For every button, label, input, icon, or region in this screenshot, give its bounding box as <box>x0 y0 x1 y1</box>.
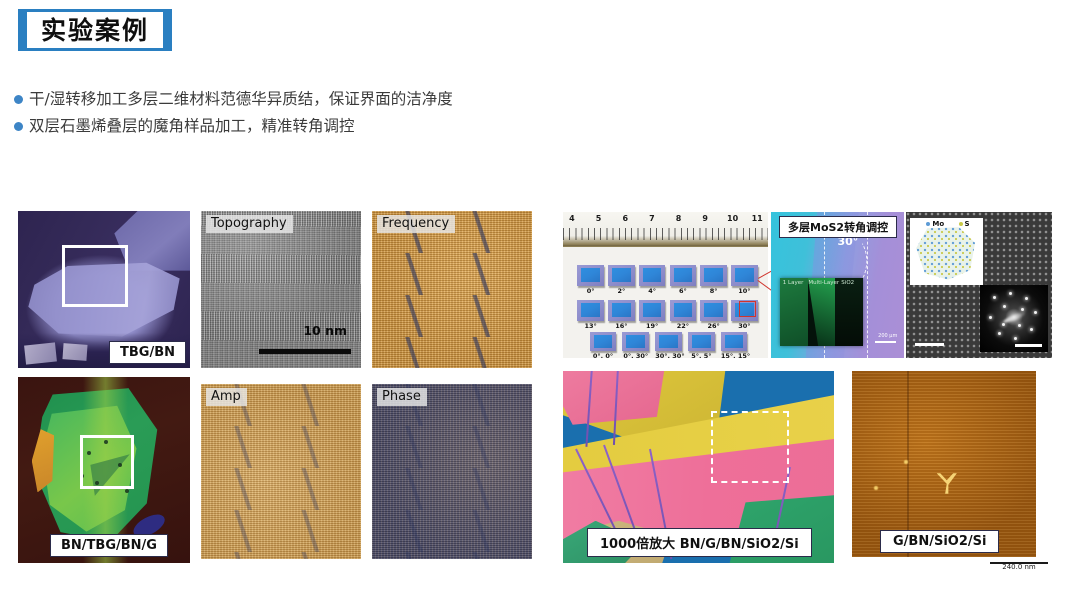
sample-angle-label: 19° <box>639 322 666 330</box>
diffraction-spot <box>1030 328 1033 331</box>
chip-substrate <box>622 332 649 351</box>
ruler-number: 11 <box>752 214 763 223</box>
bubble-dot <box>125 489 129 493</box>
ruler-number: 4 <box>569 214 575 223</box>
chip-flake <box>643 268 662 283</box>
legend-swatch-s <box>959 222 963 226</box>
ruler-number: 6 <box>622 214 628 223</box>
chip-flake <box>674 303 693 318</box>
sample-chip: 0° <box>577 265 604 294</box>
figure-caption-1000x: 1000倍放大 BN/G/BN/SiO2/Si <box>587 528 812 557</box>
chip-substrate <box>639 265 666 286</box>
sample-angle-label: 8° <box>700 287 727 295</box>
legend-label-mo: Mo <box>932 220 944 228</box>
figure-caption-tbg-bn: TBG/BN <box>109 341 186 364</box>
sample-chip: 13° <box>577 300 604 329</box>
chip-flake <box>581 303 600 318</box>
diffraction-spot <box>1002 323 1005 326</box>
sample-chip: 16° <box>608 300 635 329</box>
diffraction-spot <box>989 316 992 319</box>
figure-mos2-twist: 30° 1 Layer Multi-Layer SiO2 200 μm 多层Mo… <box>771 212 904 358</box>
chip-flake <box>704 268 723 283</box>
figure-afm-g-bn-sio2-si: G/BN/SiO2/Si <box>852 371 1036 557</box>
moire-stripes <box>372 384 532 559</box>
figure-afm-frequency: Frequency <box>372 211 532 368</box>
chip-substrate <box>608 265 635 286</box>
afm-scalebar-group: 240.0 nm <box>990 562 1048 572</box>
scalebar <box>1015 344 1042 347</box>
scalebar-label: 10 nm <box>303 323 347 338</box>
scalebar <box>915 343 944 346</box>
legend-entry-mo: Mo <box>926 220 944 228</box>
sample-chip: 6° <box>670 265 697 294</box>
chip-flake <box>692 335 711 348</box>
sample-chip: 22° <box>670 300 697 329</box>
scalebar-label: 240.0 nm <box>990 564 1048 572</box>
chip-flake <box>725 335 744 348</box>
sample-chip: 0°, 30° <box>622 332 649 358</box>
scalebar-label: 200 μm <box>878 333 897 339</box>
sample-chip: 2° <box>608 265 635 294</box>
chip-substrate <box>577 265 604 286</box>
chip-flake <box>704 303 723 318</box>
diffraction-spot <box>1003 305 1006 308</box>
chip-flake <box>581 268 600 283</box>
figure-optical-bn-tbg-bn-g: BN/TBG/BN/G <box>18 377 190 563</box>
tem-model-inset: Mo S <box>910 218 983 285</box>
diffraction-spot <box>1025 297 1028 300</box>
sample-angle-label: 0°, 0° <box>590 352 617 358</box>
chip-substrate <box>700 265 727 286</box>
sample-angle-label: 26° <box>700 322 727 330</box>
diffraction-spot <box>998 332 1001 335</box>
legend-label-s: S <box>965 220 970 228</box>
atomic-lattice-model <box>916 227 977 279</box>
sample-angle-label: 15°, 15° <box>721 352 748 358</box>
figure-afm-amplitude: Amp <box>201 384 361 559</box>
inset-region-substrate <box>835 278 862 347</box>
sample-angle-label: 0°, 30° <box>622 352 649 358</box>
sample-angle-label: 30° <box>731 322 758 330</box>
diffraction-spot <box>1021 308 1024 311</box>
sample-chip: 15°, 15° <box>721 332 748 358</box>
chip-substrate <box>655 332 682 351</box>
sample-angle-label: 13° <box>577 322 604 330</box>
chip-flake <box>659 335 678 348</box>
sample-angle-label: 16° <box>608 322 635 330</box>
afm-channel-label: Amp <box>206 388 247 406</box>
chip-substrate <box>670 265 697 286</box>
figure-caption-g-bn-sio2-si: G/BN/SiO2/Si <box>880 530 999 553</box>
sample-angle-label: 22° <box>670 322 697 330</box>
afm-channel-label: Phase <box>377 388 427 406</box>
ruler-ticks <box>563 228 768 240</box>
sample-chip: 8° <box>700 265 727 294</box>
inset-region-multilayer <box>808 278 835 347</box>
ruler-number: 9 <box>702 214 708 223</box>
inset-label: 1 Layer <box>783 280 804 286</box>
legend-swatch-mo <box>926 222 930 226</box>
chip-substrate <box>700 300 727 321</box>
chip-flake <box>674 268 693 283</box>
diffraction-spot <box>1014 337 1017 340</box>
chip-substrate <box>577 300 604 321</box>
particle-dot <box>904 460 908 464</box>
diffraction-spot <box>993 296 996 299</box>
inset-label: SiO2 <box>841 280 854 286</box>
roi-dashed-rectangle <box>711 411 789 483</box>
chip-flake <box>626 335 645 348</box>
figure-caption-bn-tbg-bn-g: BN/TBG/BN/G <box>50 534 168 557</box>
sample-chip: 30°, 30° <box>655 332 682 358</box>
scalebar <box>875 341 896 343</box>
ruler-number: 5 <box>596 214 602 223</box>
fluorescence-inset: 1 Layer Multi-Layer SiO2 <box>780 278 862 347</box>
moire-stripes <box>372 211 532 368</box>
ruler: 4 5 6 7 8 9 10 11 <box>563 212 768 247</box>
debris-particle <box>24 343 57 365</box>
scalebar <box>259 349 351 354</box>
chip-flake <box>594 335 613 348</box>
sample-angle-label: 10° <box>731 287 758 295</box>
sample-chip: 10° <box>731 265 758 294</box>
diffraction-spot <box>1018 324 1021 327</box>
sample-angle-label: 30°, 30° <box>655 352 682 358</box>
chip-substrate <box>731 265 758 286</box>
inset-label: Multi-Layer <box>808 280 839 286</box>
chip-substrate <box>639 300 666 321</box>
roi-rectangle <box>62 245 128 307</box>
chip-substrate <box>590 332 617 351</box>
chip-flake <box>735 268 754 283</box>
diffraction-streak <box>1003 310 1026 324</box>
figure-optical-tbg-bn: TBG/BN <box>18 211 190 368</box>
sample-angle-label: 2° <box>608 287 635 295</box>
afm-channel-label: Frequency <box>377 215 455 233</box>
sample-angle-label: 4° <box>639 287 666 295</box>
chip-substrate <box>670 300 697 321</box>
sample-chip: 4° <box>639 265 666 294</box>
figure-twist-angle-samples: 4 5 6 7 8 9 10 11 0° 2° 4° <box>563 212 768 358</box>
sample-angle-label: 0° <box>577 287 604 295</box>
diffraction-inset <box>980 285 1047 352</box>
chip-flake <box>612 303 631 318</box>
chip-flake <box>612 268 631 283</box>
sample-angle-label: 6° <box>670 287 697 295</box>
diffraction-spot <box>1034 311 1037 314</box>
moire-stripes <box>201 384 361 559</box>
legend-entry-s: S <box>959 220 970 228</box>
figure-afm-topography: Topography 10 nm <box>201 211 361 368</box>
chip-substrate <box>688 332 715 351</box>
figure-tem-lattice: Mo S <box>906 212 1052 358</box>
zoom-callout-box <box>739 301 755 317</box>
figure-grid: TBG/BN BN/TBG/BN/G Topography 10 nm <box>0 0 1080 599</box>
ruler-number: 10 <box>727 214 738 223</box>
wrinkle-y-feature <box>937 473 957 493</box>
sample-chip: 19° <box>639 300 666 329</box>
sample-chip: 26° <box>700 300 727 329</box>
roi-rectangle <box>80 435 134 489</box>
figure-afm-phase: Phase <box>372 384 532 559</box>
ruler-number: 7 <box>649 214 655 223</box>
ruler-number: 8 <box>676 214 682 223</box>
sample-angle-label: 5°, 5° <box>688 352 715 358</box>
particle-dot <box>874 486 878 490</box>
debris-particle <box>62 344 87 361</box>
afm-channel-label: Topography <box>206 215 293 233</box>
sample-chip: 5°, 5° <box>688 332 715 358</box>
chip-substrate <box>608 300 635 321</box>
figure-caption-mos2: 多层MoS2转角调控 <box>779 216 897 238</box>
chip-flake <box>643 303 662 318</box>
inset-region-monolayer <box>780 278 807 347</box>
figure-optical-1000x: 1000倍放大 BN/G/BN/SiO2/Si <box>563 371 834 563</box>
sample-chip: 0°, 0° <box>590 332 617 358</box>
slide-root: 实验案例 干/湿转移加工多层二维材料范德华异质结，保证界面的洁净度 双层石墨烯叠… <box>0 0 1080 599</box>
diffraction-spot <box>1009 292 1012 295</box>
chip-substrate <box>721 332 748 351</box>
